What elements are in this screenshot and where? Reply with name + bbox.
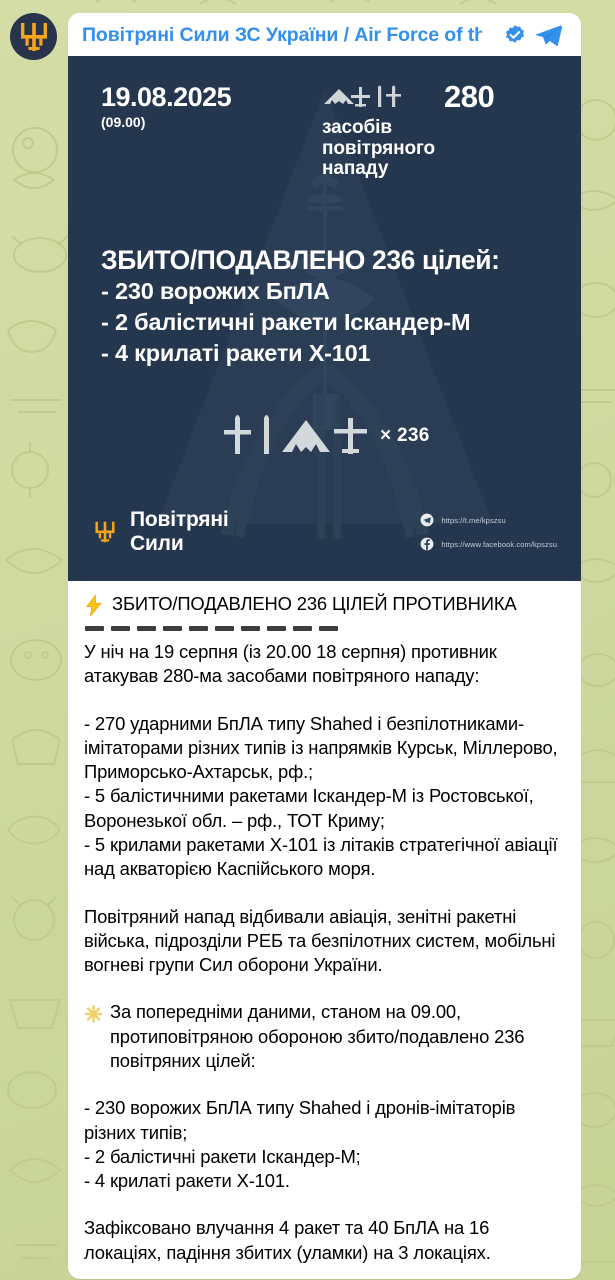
poster-time-value: (09.00)	[101, 115, 231, 129]
poster-headline-title: ЗБИТО/ПОДАВЛЕНО 236 цілей:	[101, 246, 561, 276]
divider-dash	[267, 626, 286, 631]
poster-item: - 4 крилаті ракети Х-101	[101, 338, 561, 369]
poster-item: - 2 балістичні ракети Іскандер-М	[101, 307, 561, 338]
message-paragraph-3: Повітряний напад відбивали авіація, зені…	[84, 905, 565, 978]
divider-dash	[241, 626, 260, 631]
message-paragraph-4-row: За попередніми даними, станом на 09.00, …	[84, 1000, 565, 1073]
weapon-icons-row	[322, 84, 434, 110]
poster-tally-multiplier: × 236	[380, 425, 430, 447]
paragraph-spacer	[84, 882, 565, 905]
message-paragraph-5: - 230 ворожих БпЛА типу Shahed і дронів-…	[84, 1096, 565, 1193]
poster-count-block: 280 засобів повітряного нападу	[322, 81, 557, 180]
poster-item: - 230 ворожих БпЛА	[101, 276, 561, 307]
verified-badge-icon	[504, 24, 526, 46]
shahed-drone-icon	[282, 420, 330, 452]
brand-block: Повітряні Сили	[94, 508, 228, 555]
bubble-header: Повітряні Сили ЗС України / Air Force of…	[68, 13, 581, 56]
message-text-body: ЗБИТО/ПОДАВЛЕНО 236 ЦІЛЕЙ ПРОТИВНИКА У н…	[68, 581, 581, 1279]
divider-dash	[189, 626, 208, 631]
airplane-icon	[334, 418, 367, 454]
message-title-row: ЗБИТО/ПОДАВЛЕНО 236 ЦІЛЕЙ ПРОТИВНИКА	[84, 592, 565, 617]
divider-dash	[319, 626, 338, 631]
social-link-telegram[interactable]: https://t.me/kpszsu	[420, 513, 557, 527]
paragraph-spacer	[84, 689, 565, 712]
dashed-divider	[85, 626, 565, 631]
poster-date-value: 19.08.2025	[101, 84, 231, 111]
paragraph-spacer	[84, 1193, 565, 1216]
shahed-drone-icon	[324, 89, 354, 104]
divider-dash	[85, 626, 104, 631]
poster-date: 19.08.2025 (09.00)	[101, 84, 231, 129]
channel-name[interactable]: Повітряні Сили ЗС України / Air Force of…	[82, 24, 482, 47]
avatar[interactable]	[10, 13, 57, 60]
message-title: ЗБИТО/ПОДАВЛЕНО 236 ЦІЛЕЙ ПРОТИВНИКА	[112, 592, 517, 616]
message-paragraph-6: Зафіксовано влучання 4 ракет та 40 БпЛА …	[84, 1216, 565, 1265]
divider-dash	[163, 626, 182, 631]
divider-dash	[111, 626, 130, 631]
telegram-plane-icon[interactable]	[535, 23, 563, 47]
poster-tally-row: × 236	[220, 412, 430, 460]
brand-line-2: Сили	[130, 532, 228, 556]
tally-weapon-icons	[220, 412, 368, 460]
high-voltage-emoji	[84, 594, 104, 617]
divider-dash	[293, 626, 312, 631]
social-links: https://t.me/kpszsu https://www.facebook…	[420, 513, 557, 551]
telegram-circle-icon	[420, 513, 434, 527]
trident-icon	[19, 21, 49, 53]
social-url-facebook: https://www.facebook.com/kpszsu	[441, 540, 557, 549]
poster-headline-block: ЗБИТО/ПОДАВЛЕНО 236 цілей: - 230 ворожих…	[101, 246, 561, 369]
cruise-missile-icon	[386, 85, 401, 107]
divider-dash	[215, 626, 234, 631]
poster-image[interactable]: 19.08.2025 (09.00)	[68, 56, 581, 581]
social-url-telegram: https://t.me/kpszsu	[441, 516, 505, 525]
message-paragraph-2: - 270 ударними БпЛА типу Shahed і безпіл…	[84, 712, 565, 882]
cruise-missile-icon	[224, 415, 251, 454]
divider-dash	[137, 626, 156, 631]
brand-line-1: Повітряні	[130, 508, 228, 532]
poster-footer: Повітряні Сили https://t.me/kpszsu	[68, 497, 581, 567]
message-bubble: Повітряні Сили ЗС України / Air Force of…	[68, 13, 581, 1279]
missile-bar-icon	[264, 415, 269, 454]
poster-count-number: 280	[444, 81, 494, 112]
poster-count-label: засобів повітряного нападу	[322, 118, 557, 180]
missile-bar-icon	[378, 85, 381, 107]
trident-icon	[94, 517, 116, 547]
facebook-circle-icon	[420, 537, 434, 551]
paragraph-spacer	[84, 977, 565, 1000]
eight-spoked-asterisk-emoji	[84, 1004, 103, 1024]
message-paragraph-4: За попередніми даними, станом на 09.00, …	[110, 1000, 565, 1073]
paragraph-spacer	[84, 1073, 565, 1096]
message-paragraph-1: У ніч на 19 серпня (із 20.00 18 серпня) …	[84, 640, 565, 689]
header-badges	[504, 23, 567, 47]
social-link-facebook[interactable]: https://www.facebook.com/kpszsu	[420, 537, 557, 551]
